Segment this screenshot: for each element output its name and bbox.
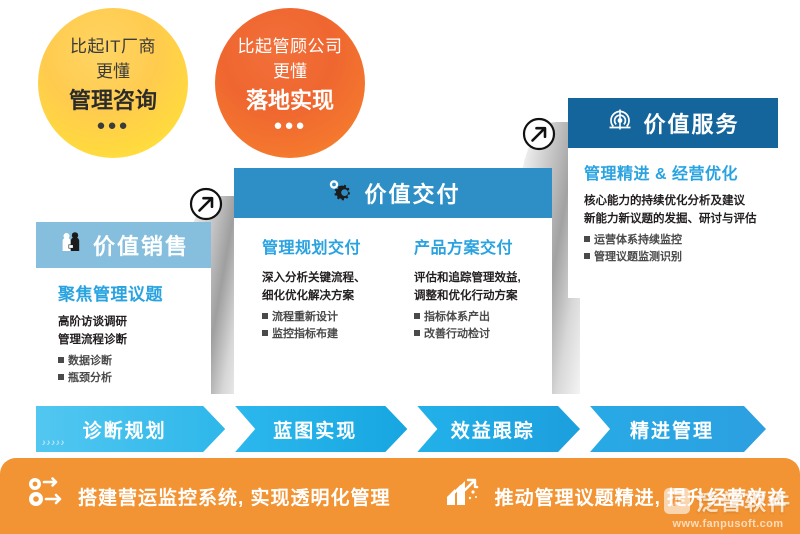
card-lead-line: 新能力新议题的发掘、研讨与评估 xyxy=(584,211,778,229)
list-item-label: 数据诊断 xyxy=(68,353,112,371)
list-item-label: 改善行动检讨 xyxy=(424,326,490,344)
bullet-square-icon xyxy=(584,236,590,242)
card-header-value-service: 价值服务 xyxy=(568,98,778,148)
bubble-implementation: 比起管顾公司 更懂 落地实现 ●●● xyxy=(215,8,365,158)
gear-icon xyxy=(325,176,355,211)
bubble-line-3: 落地实现 xyxy=(246,87,334,115)
banner-item-label: 搭建营运监控系统, 实现透明化管理 xyxy=(78,483,391,510)
list-item: 流程重新设计 xyxy=(262,309,384,327)
card-bullet-list: 运营体系持续监控 管理议题监测识别 xyxy=(584,232,778,268)
bubble-management-consulting: 比起IT厂商 更懂 管理咨询 ●●● xyxy=(38,8,188,158)
process-step-blueprint[interactable]: 蓝图实现 xyxy=(235,406,407,452)
process-step-benefit-tracking[interactable]: 效益跟踪 xyxy=(417,406,580,452)
list-item: 监控指标布建 xyxy=(262,326,384,344)
delivery-column-management-plan: 管理规划交付 深入分析关键流程、 细化优化解决方案 流程重新设计 监控指标布建 xyxy=(262,234,384,344)
card-bullet-list: 指标体系产出 改善行动检讨 xyxy=(414,309,536,345)
card-header-label: 价值销售 xyxy=(93,229,189,261)
list-item-label: 运营体系持续监控 xyxy=(594,232,682,250)
card-bullet-list: 数据诊断 瓶颈分析 xyxy=(58,353,211,389)
banner-item-improvement: 推动管理议题精进, 提升经营效益 xyxy=(443,475,788,517)
list-item: 管理议题监测识别 xyxy=(584,249,778,267)
delivery-column-product-solution: 产品方案交付 评估和追踪管理效益, 调整和优化行动方案 指标体系产出 改善行动检… xyxy=(414,234,536,344)
card-lead-line: 细化优化解决方案 xyxy=(262,288,384,306)
card-subtitle: 管理规划交付 xyxy=(262,234,384,258)
growth-chart-icon xyxy=(443,475,483,517)
card-subtitle: 聚焦管理议题 xyxy=(58,280,211,305)
list-item-label: 指标体系产出 xyxy=(424,309,490,327)
gears-arrows-icon xyxy=(26,475,66,517)
card-value-delivery: 价值交付 管理规划交付 深入分析关键流程、 细化优化解决方案 流程重新设计 监控… xyxy=(234,168,552,394)
banner-item-label: 推动管理议题精进, 提升经营效益 xyxy=(495,483,788,510)
card-lead-line: 深入分析关键流程、 xyxy=(262,270,384,288)
bullet-square-icon xyxy=(414,330,420,336)
card-lead-line: 评估和追踪管理效益, xyxy=(414,270,536,288)
list-item: 运营体系持续监控 xyxy=(584,232,778,250)
bullet-square-icon xyxy=(584,253,590,259)
card-bullet-list: 流程重新设计 监控指标布建 xyxy=(262,309,384,345)
card-lead: 深入分析关键流程、 细化优化解决方案 xyxy=(262,270,384,306)
card-body-value-sales: 聚焦管理议题 高阶访谈调研 管理流程诊断 数据诊断 瓶颈分析 xyxy=(36,268,211,388)
list-item-label: 瓶颈分析 xyxy=(68,370,112,388)
card-lead: 核心能力的持续优化分析及建议 新能力新议题的发掘、研讨与评估 xyxy=(584,193,778,229)
list-item: 改善行动检讨 xyxy=(414,326,536,344)
card-header-value-delivery: 价值交付 xyxy=(234,168,552,218)
up-right-arrow-circle-2 xyxy=(521,116,557,157)
card-lead-line: 核心能力的持续优化分析及建议 xyxy=(584,193,778,211)
card-value-sales: 价值销售 聚焦管理议题 高阶访谈调研 管理流程诊断 数据诊断 瓶颈分析 xyxy=(36,222,211,394)
card-lead: 评估和追踪管理效益, 调整和优化行动方案 xyxy=(414,270,536,306)
process-step-label: 蓝图实现 xyxy=(273,416,357,443)
bullet-square-icon xyxy=(58,374,64,380)
process-step-label: 诊断规划 xyxy=(83,416,167,443)
card-value-service: 价值服务 管理精进 & 经营优化 核心能力的持续优化分析及建议 新能力新议题的发… xyxy=(568,98,778,298)
process-step-refined-management[interactable]: 精进管理 xyxy=(590,406,766,452)
bullet-square-icon xyxy=(262,313,268,319)
card-subtitle: 产品方案交付 xyxy=(414,234,536,258)
bubble-line-2: 更懂 xyxy=(96,61,130,82)
bullet-square-icon xyxy=(58,357,64,363)
card-header-value-sales: 价值销售 xyxy=(36,222,211,268)
process-step-label: 精进管理 xyxy=(630,416,714,443)
bubble-line-1: 比起管顾公司 xyxy=(238,36,343,57)
process-step-label: 效益跟踪 xyxy=(451,416,535,443)
bubble-dots: ●●● xyxy=(96,121,129,130)
card-header-label: 价值服务 xyxy=(643,107,739,139)
bubble-dots: ●●● xyxy=(273,121,306,130)
card-header-label: 价值交付 xyxy=(364,177,460,209)
bubble-line-3: 管理咨询 xyxy=(69,87,157,115)
process-step-diagnosis[interactable]: 诊断规划 ››››› xyxy=(36,406,225,452)
banner-item-monitoring: 搭建营运监控系统, 实现透明化管理 xyxy=(26,475,391,517)
bubble-line-1: 比起IT厂商 xyxy=(70,36,156,57)
process-step-bar: 诊断规划 ››››› 蓝图实现 效益跟踪 精进管理 xyxy=(36,406,776,452)
card-lead-line: 管理流程诊断 xyxy=(58,332,211,350)
list-item-label: 管理议题监测识别 xyxy=(594,249,682,267)
bubble-line-2: 更懂 xyxy=(273,61,307,82)
list-item-label: 监控指标布建 xyxy=(272,326,338,344)
bullet-square-icon xyxy=(414,313,420,319)
list-item: 指标体系产出 xyxy=(414,309,536,327)
card-body-value-delivery: 管理规划交付 深入分析关键流程、 细化优化解决方案 流程重新设计 监控指标布建 … xyxy=(234,218,552,344)
infographic-canvas: 比起IT厂商 更懂 管理咨询 ●●● 比起管顾公司 更懂 落地实现 ●●● xyxy=(0,0,800,534)
list-item: 数据诊断 xyxy=(58,353,211,371)
radar-target-icon xyxy=(606,107,634,140)
list-item-label: 流程重新设计 xyxy=(272,309,338,327)
list-item: 瓶颈分析 xyxy=(58,370,211,388)
bullet-square-icon xyxy=(262,330,268,336)
up-right-arrow-circle-1 xyxy=(188,186,224,227)
bottom-banner: 搭建营运监控系统, 实现透明化管理 推动管理议题精进, 提升经营效 xyxy=(0,458,800,534)
card-lead-line: 高阶访谈调研 xyxy=(58,314,211,332)
card-subtitle: 管理精进 & 经营优化 xyxy=(584,160,778,184)
micro-chevrons-icon: ››››› xyxy=(42,438,65,449)
card-lead: 高阶访谈调研 管理流程诊断 xyxy=(58,314,211,350)
people-icon xyxy=(58,230,84,261)
card-body-value-service: 管理精进 & 经营优化 核心能力的持续优化分析及建议 新能力新议题的发掘、研讨与… xyxy=(568,148,778,267)
card-lead-line: 调整和优化行动方案 xyxy=(414,288,536,306)
